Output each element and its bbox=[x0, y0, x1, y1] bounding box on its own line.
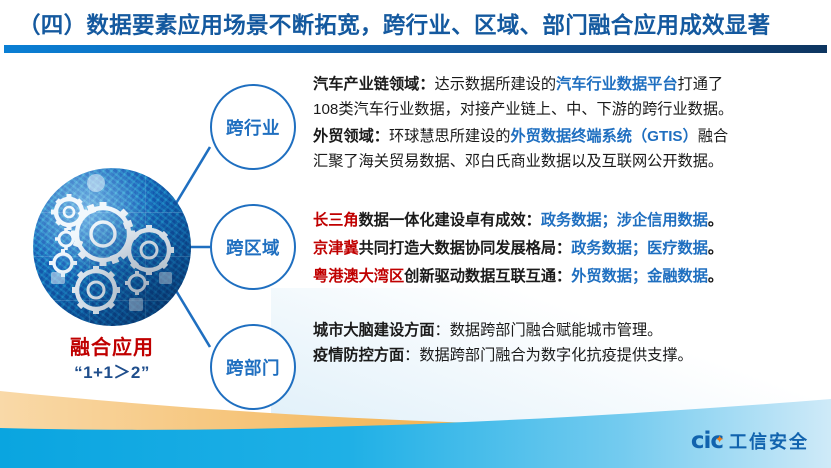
text-line: 京津冀共同打造大数据协同发展格局：政务数据；医疗数据。 bbox=[313, 235, 825, 263]
page-title: （四）数据要素应用场景不断拓宽，跨行业、区域、部门融合应用成效显著 bbox=[18, 8, 818, 40]
text-line: 疫情防控方面：数据跨部门融合为数字化抗疫提供支撑。 bbox=[313, 343, 825, 368]
node-cross-industry[interactable]: 跨行业 bbox=[210, 84, 296, 170]
logo-text: 工信安全 bbox=[729, 428, 809, 454]
node-label: 跨行业 bbox=[226, 115, 280, 140]
gear-sphere-icon bbox=[33, 168, 191, 326]
slide-canvas: （四）数据要素应用场景不断拓宽，跨行业、区域、部门融合应用成效显著 bbox=[0, 0, 831, 468]
text-run: 汇聚了海关贸易数据、邓白氏商业数据以及互联网公开数据。 bbox=[313, 153, 723, 170]
text-line: 城市大脑建设方面：数据跨部门融合赋能城市管理。 bbox=[313, 318, 825, 343]
node-cross-region[interactable]: 跨区域 bbox=[210, 204, 296, 290]
text-run: 汽车产业链领域： bbox=[313, 76, 435, 93]
text-run: ：数据跨部门融合为数字化抗疫提供支撑。 bbox=[404, 347, 693, 364]
text-line: 外贸领域：环球慧思所建设的外贸数据终端系统（GTIS）融合 bbox=[313, 124, 825, 149]
text-run: 疫情防控方面 bbox=[313, 347, 404, 364]
text-run: 外贸数据终端系统（GTIS） bbox=[510, 128, 697, 145]
text-run: 政务数据；医疗数据 bbox=[571, 240, 708, 257]
text-run: 融合 bbox=[698, 128, 728, 145]
text-run: 外贸领域： bbox=[313, 128, 389, 145]
text-line: 长三角数据一体化建设卓有成效：政务数据；涉企信用数据。 bbox=[313, 207, 825, 235]
text-run: ：数据跨部门融合赋能城市管理。 bbox=[435, 322, 663, 339]
text-run: 京津冀 bbox=[313, 240, 359, 257]
text-run: 。 bbox=[708, 268, 723, 285]
hub-group: 融合应用 “1+1＞2” bbox=[33, 168, 193, 328]
text-run: 数据一体化建设卓有成效： bbox=[359, 212, 541, 229]
text-run: 达示数据所建设的 bbox=[435, 76, 557, 93]
text-run: 长三角 bbox=[313, 212, 359, 229]
text-block-cross-department: 城市大脑建设方面：数据跨部门融合赋能城市管理。疫情防控方面：数据跨部门融合为数字… bbox=[313, 318, 825, 368]
star-icon: ✦ bbox=[715, 435, 724, 444]
brand-logo: cic ✦ 工信安全 bbox=[691, 428, 809, 454]
text-line: 汽车产业链领域：达示数据所建设的汽车行业数据平台打通了 bbox=[313, 72, 825, 97]
text-block-regions: 长三角数据一体化建设卓有成效：政务数据；涉企信用数据。京津冀共同打造大数据协同发… bbox=[313, 207, 825, 291]
text-run: 共同打造大数据协同发展格局： bbox=[359, 240, 572, 257]
text-run: 城市大脑建设方面 bbox=[313, 322, 435, 339]
title-divider bbox=[4, 45, 827, 53]
hub-label: 融合应用 bbox=[33, 331, 191, 360]
text-run: 外贸数据；金融数据 bbox=[571, 268, 708, 285]
text-run: 。 bbox=[708, 240, 723, 257]
text-run: 粤港澳大湾区 bbox=[313, 268, 404, 285]
text-run: 创新驱动数据互联互通： bbox=[404, 268, 571, 285]
node-label: 跨区域 bbox=[226, 235, 280, 260]
text-line: 108类汽车行业数据，对接产业链上、中、下游的跨行业数据。 bbox=[313, 97, 825, 122]
text-block-auto-industry: 汽车产业链领域：达示数据所建设的汽车行业数据平台打通了108类汽车行业数据，对接… bbox=[313, 72, 825, 122]
logo-mark: cic ✦ bbox=[691, 428, 723, 454]
text-block-foreign-trade: 外贸领域：环球慧思所建设的外贸数据终端系统（GTIS）融合汇聚了海关贸易数据、邓… bbox=[313, 124, 825, 174]
text-run: 。 bbox=[708, 212, 723, 229]
text-run: 政务数据；涉企信用数据 bbox=[541, 212, 708, 229]
text-line: 汇聚了海关贸易数据、邓白氏商业数据以及互联网公开数据。 bbox=[313, 149, 825, 174]
text-run: 汽车行业数据平台 bbox=[556, 76, 678, 93]
text-line: 粤港澳大湾区创新驱动数据互联互通：外贸数据；金融数据。 bbox=[313, 263, 825, 291]
text-run: 108类汽车行业数据，对接产业链上、中、下游的跨行业数据。 bbox=[313, 101, 733, 118]
text-run: 打通了 bbox=[678, 76, 724, 93]
text-run: 环球慧思所建设的 bbox=[389, 128, 511, 145]
